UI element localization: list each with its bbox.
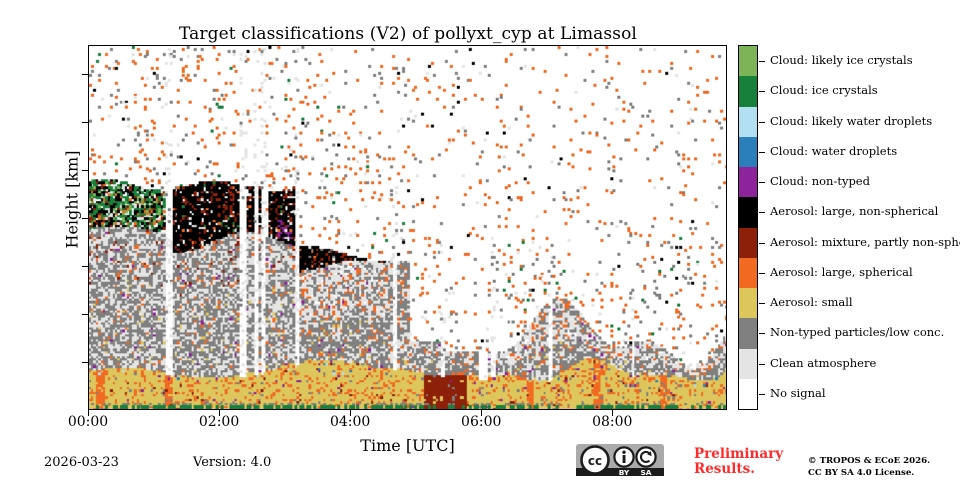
x-tick-label: 04:00 — [305, 414, 395, 430]
copyright-notice: © TROPOS & ECoE 2026. CC BY SA 4.0 Licen… — [808, 455, 930, 480]
figure-canvas: Target classifications (V2) of pollyxt_c… — [0, 0, 960, 480]
cc-sa-label: SA — [640, 468, 651, 476]
preliminary-line-1: Preliminary — [694, 447, 804, 462]
copyright-line-2: CC BY SA 4.0 License. — [808, 467, 930, 479]
colorbar-tick-mark — [759, 364, 765, 365]
colorbar-tick-mark — [759, 122, 765, 123]
x-tick-mark — [219, 410, 220, 416]
x-tick-mark — [350, 410, 351, 416]
colorbar-category-label: Non-typed particles/low conc. — [770, 325, 944, 339]
x-tick-label: 06:00 — [436, 414, 526, 430]
preliminary-line-2: Results. — [694, 462, 804, 477]
svg-text:cc: cc — [588, 454, 602, 468]
copyright-line-1: © TROPOS & ECoE 2026. — [808, 455, 930, 467]
colorbar-tick-mark — [759, 273, 765, 274]
colorbar-category-label: Aerosol: mixture, partly non-spherical — [770, 235, 960, 249]
creative-commons-badge-icon: cc BY SA — [576, 444, 664, 476]
colorbar-category-label: Aerosol: large, spherical — [770, 265, 913, 279]
colorbar-band — [739, 167, 757, 197]
preliminary-results-notice: Preliminary Results. — [694, 447, 804, 477]
colorbar-tick-mark — [759, 212, 765, 213]
colorbar-category-label: Cloud: ice crystals — [770, 83, 878, 97]
colorbar-category-label: Cloud: water droplets — [770, 144, 897, 158]
colorbar-tick-mark — [759, 182, 765, 183]
colorbar-category-label: Cloud: likely ice crystals — [770, 53, 913, 67]
colorbar-tick-mark — [759, 394, 765, 395]
colorbar-tick-mark — [759, 61, 765, 62]
colorbar-band — [739, 349, 757, 379]
colorbar-category-label: No signal — [770, 386, 826, 400]
colorbar-band — [739, 318, 757, 348]
page-title: Target classifications (V2) of pollyxt_c… — [0, 24, 816, 44]
colorbar-band — [739, 137, 757, 167]
colorbar-category-label: Clean atmosphere — [770, 356, 876, 370]
classification-heatmap — [89, 46, 726, 409]
colorbar-category-label: Aerosol: large, non-spherical — [770, 204, 938, 218]
footer-version: Version: 4.0 — [193, 455, 271, 470]
cc-by-label: BY — [619, 468, 630, 476]
plot-area — [88, 45, 727, 410]
x-tick-mark — [88, 410, 89, 416]
y-axis-label: Height [km] — [63, 100, 82, 300]
colorbar-tick-mark — [759, 152, 765, 153]
colorbar-category-label: Cloud: likely water droplets — [770, 114, 932, 128]
colorbar-category-label: Aerosol: small — [770, 295, 853, 309]
colorbar-band — [739, 228, 757, 258]
colorbar-band — [739, 76, 757, 106]
colorbar-band — [739, 197, 757, 227]
colorbar-band — [739, 107, 757, 137]
x-tick-label: 08:00 — [567, 414, 657, 430]
colorbar-band — [739, 46, 757, 76]
colorbar — [738, 45, 758, 410]
x-tick-label: 02:00 — [174, 414, 264, 430]
colorbar-tick-mark — [759, 91, 765, 92]
colorbar-tick-mark — [759, 243, 765, 244]
colorbar-category-label: Cloud: non-typed — [770, 174, 870, 188]
x-tick-mark — [481, 410, 482, 416]
colorbar-tick-mark — [759, 333, 765, 334]
colorbar-band — [739, 258, 757, 288]
colorbar-tick-mark — [759, 303, 765, 304]
x-tick-mark — [612, 410, 613, 416]
footer-date: 2026-03-23 — [44, 455, 119, 470]
x-tick-label: 00:00 — [43, 414, 133, 430]
colorbar-band — [739, 288, 757, 318]
colorbar-band — [739, 379, 757, 409]
